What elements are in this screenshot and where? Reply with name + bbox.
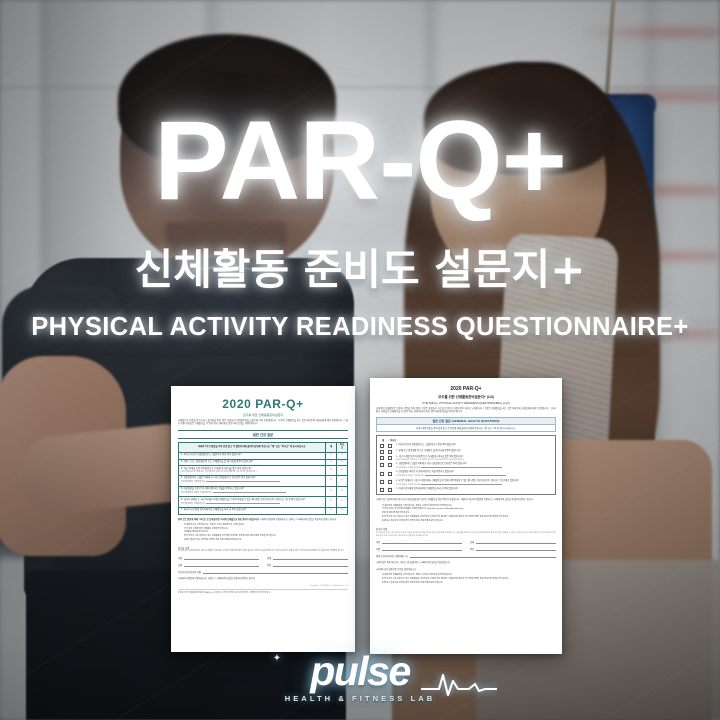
witness-input-line[interactable]	[273, 563, 348, 567]
guardian-row: 부모/보호자/관리인 서명	[178, 570, 348, 574]
guardian-field: 부모/보호자/관리인 서명	[178, 570, 348, 574]
doc-right-column-headers: 예 아니오	[380, 438, 552, 442]
q6-subnote: 여기에 질환을 기재해 주십시오:	[396, 483, 552, 487]
list-item: 만약 당신이 교육 이상이고 최근 신체활동을 규칙적으로 수행한 적이 없다면…	[382, 516, 556, 519]
name-label: 이름	[376, 540, 380, 544]
date-label: 날짜	[470, 540, 474, 544]
q5-body: 만성질환을 이유로 더 현재 처방되는 약물 복용하고 있습니까?	[398, 471, 454, 473]
doc-right-section-band-sub: 아래 7개의 질문을 주의 깊게 읽고 각 질문에 대해 솔직히 답변해 주십시…	[376, 425, 556, 432]
q5-write-in-line[interactable]	[425, 474, 506, 476]
doc-right-bottom-bullets: 더 활동적인 신체활동을 시작하십시오. 천천히 시작하고 점차적으로 진행하십…	[376, 574, 556, 585]
q5-no-box[interactable]: □	[337, 486, 348, 497]
signature-field: 서명	[267, 556, 348, 560]
q2-no-box[interactable]: □	[337, 459, 348, 466]
q6-text: 6. 당신은 현재(또는 지난 12개월 이내) 신체활동을 더 많이 하면 악…	[396, 480, 552, 487]
q4-body: 심장질환이나 고혈압 이외에 또 다른 만성질환으로 진단받은 적이 있습니까?	[398, 463, 466, 465]
doc-left-subtitle: 모두를 위한 신체활동준비설문지	[178, 413, 348, 417]
q1-yes-box[interactable]: □	[326, 452, 337, 459]
q1-number: 1	[181, 454, 182, 456]
guardian-input-line[interactable]	[410, 554, 556, 558]
q1-text: 1. 의사가 당신이 심장질환이나 고혈압이라 말한 적이 있습니까?	[179, 452, 326, 459]
q2-body: 쉴 때 또는 일상생활 중 또는 신체활동 할 때 가슴에 통증이 있습니까?	[398, 450, 460, 452]
date-field: 날짜	[178, 563, 259, 567]
signature-row: 서명 증인	[376, 547, 556, 551]
heartbeat-line-icon	[421, 671, 497, 697]
q1-body: 의사가 당신이 심장질환 또는 고혈압이라고 말한 적이 있습니까?	[398, 444, 456, 446]
q6-number: 6	[181, 499, 182, 501]
date-label: 날짜	[178, 563, 182, 567]
signature-row: 이름 서명	[178, 556, 348, 560]
name-field: 이름	[178, 556, 259, 560]
doc-right-subtitle-ko: 모두를 위한 신체활동준비설문지+ (1/4)	[376, 394, 556, 399]
q5-text: 5. 만성질환을 이유로 이 현재 처방되는 약물을 복용하고 있습니까? 여기…	[179, 486, 326, 497]
q4-subnote: 여기에 질환을 기재해 주십시오:	[396, 466, 552, 470]
q6-write-in-line[interactable]	[206, 502, 280, 504]
q3-yes-checkbox[interactable]	[380, 456, 384, 460]
q3-number: 3	[181, 468, 182, 470]
doc-left-bullet-list: 더 활동적으로 시작하십시오 - 천천히 그리고 점차적으로 시작하십시오. 국…	[178, 524, 348, 542]
document-left-par-q-english-form[interactable]: 2020 PAR-Q+ 모두를 위한 신체활동준비설문지 신체활동은 건강을 증…	[171, 386, 355, 652]
q4-text: 4. 심장질환이나 고혈압 이외에 또 다른 만성질환으로 진단받은 적이 있습…	[396, 463, 552, 470]
q4-number: 4	[181, 477, 182, 479]
doc-left-intro: 신체활동은 건강을 증진시키고 즐거움을 주며, 많은 사람들이 신체활동량을 …	[178, 420, 348, 427]
document-right-par-q-korean-form[interactable]: 2020 PAR-Q+ 모두를 위한 신체활동준비설문지+ (1/4) (THE…	[370, 378, 562, 654]
q3-yes-box[interactable]: □	[326, 466, 337, 476]
q7-text: 7. 의사가 당신에게 감독하에서만 신체활동을 하라 한 적이 있습니까?	[179, 507, 326, 514]
col-yes-label: 예	[382, 438, 386, 442]
q4-write-in-line[interactable]	[421, 466, 502, 468]
q5-sub-label: 여기에 질환과 약물을 기재하십시오:	[396, 475, 424, 477]
q5-number: 5	[181, 488, 182, 490]
q7-yes-checkbox[interactable]	[380, 488, 384, 492]
list-item: 만약 당신이 교육 이상이고 최근 신체활동을 규칙적으로 수행한 적이 없다면…	[382, 578, 556, 581]
doc-left-note-title: 위의 모든 질문에 대해 "아니오"로 답하셨다면, 의학적 신체활동을 위한 …	[178, 519, 260, 521]
q7-text: 7. 의사가 당신에게 감독하에서만 신체활동을 하라 한 적이 있습니까?	[396, 488, 552, 491]
signature-row: 이름 날짜	[376, 540, 556, 544]
date-input-line[interactable]	[476, 540, 556, 544]
q3-text: 3. 지난 12개월 동안 어지럼증으로 쓰러졌거나 의식을 잃은 적이 있습니…	[179, 466, 326, 476]
q7-no-checkbox[interactable]	[388, 488, 392, 492]
table-row: 7. 의사가 당신에게 감독하에서만 신체활동을 하라 한 적이 있습니까? □…	[179, 507, 348, 514]
q2-yes-box[interactable]: □	[326, 459, 337, 466]
th-no: 아니오	[337, 442, 348, 452]
question-row: 7. 의사가 당신에게 감독하에서만 신체활동을 하라 한 적이 있습니까?	[380, 488, 552, 492]
q3-subnote: (단지 과호흡으로 인해 또는 너무 빠르게 일어나서 어지러웠다면 '아니오'…	[396, 459, 552, 462]
guardian-input-line[interactable]	[203, 570, 348, 574]
q4-subnote: 여기에 질환을 기재하십시오:	[181, 480, 323, 484]
list-item: 문제 또는 질문으로 상담할 경우 인증된 운동 전문가에게 문의 하십시오.	[382, 582, 556, 585]
q3-body: 지난 12개월 동안 어지럼증으로 쓰러졌거나 의식을 잃은 적이 있습니까?	[398, 456, 463, 458]
doc-left-consent-body: 본 설문지는 작성일로부터 최대 12개월간 유효하며, 당신의 상태가 변하면…	[178, 550, 348, 553]
q4-sub-label: 여기에 질환을 기재하십시오:	[181, 481, 206, 483]
q4-write-in-line[interactable]	[206, 480, 280, 482]
q6-text: 6. 당신이 현재(또는 지난 12개월 이내) 신체활동을 더 하면 악화될 …	[179, 497, 326, 508]
q3-text: 3. 지난 12개월 동안 어지럼증으로 쓰러졌거나 의식을 잃은 적이 있습니…	[396, 456, 552, 462]
q7-body: 의사가 당신에게 감독하에서만 신체활동을 하라 한 적이 있습니까?	[398, 488, 458, 490]
guardian-row: 법적 보호자/관리인 서명(해당 시)	[376, 554, 556, 558]
doc-right-title: 2020 PAR-Q+	[376, 386, 556, 392]
doc-right-question-box: 예 아니오 1. 의사가 당신이 심장질환 또는 고혈압이라고 말한 적이 있습…	[376, 435, 556, 495]
doc-right-subtitle-en: (THE PAR-Q+, PHYSICAL ACTIVITY READINESS…	[376, 401, 556, 405]
subtitle-english: PHYSICAL ACTIVITY READINESS QUESTIONNAIR…	[0, 313, 720, 342]
q6-sub-label: 여기에 질환을 기재해 주십시오:	[396, 484, 421, 486]
signature-input-line[interactable]	[273, 556, 348, 560]
q4-sub-label: 여기에 질환을 기재해 주십시오:	[396, 467, 421, 469]
guardian-label: 부모/보호자/관리인 서명	[178, 570, 201, 574]
signature-label: 서명	[267, 556, 271, 560]
q1-no-box[interactable]: □	[337, 452, 348, 459]
q6-no-checkbox[interactable]	[388, 480, 392, 484]
witness-label: 증인	[267, 563, 271, 567]
q7-number: 7	[181, 509, 182, 511]
doc-left-note-block: 위의 모든 질문에 대해 "아니오"로 답하셨다면, 의학적 신체활동을 위한 …	[178, 519, 348, 522]
doc-right-footnote-2: ▪ 아래의 공복 권장사항 조언을 확인하십시오.	[376, 569, 556, 572]
q5-text: 5. 만성질환을 이유로 더 현재 처방되는 약물 복용하고 있습니까? 여기에…	[396, 471, 552, 478]
q2-number: 2	[181, 461, 182, 463]
question-row: 6. 당신은 현재(또는 지난 12개월 이내) 신체활동을 더 많이 하면 악…	[380, 480, 552, 487]
table-row: 6. 당신이 현재(또는 지난 12개월 이내) 신체활동을 더 하면 악화될 …	[179, 497, 348, 508]
date-input-line[interactable]	[184, 563, 259, 567]
list-item: 문제 또는 질문으로 상담할 경우 인증된 운동 전문가에게 문의 하십시오.	[382, 520, 556, 523]
q6-yes-checkbox[interactable]	[380, 480, 384, 484]
q5-yes-checkbox[interactable]	[380, 472, 384, 476]
q3-body: 지난 12개월 동안 어지럼증으로 쓰러졌거나 의식을 잃은 적이 있습니까?	[184, 468, 252, 470]
q4-yes-checkbox[interactable]	[380, 463, 384, 467]
signature-label: 서명	[376, 547, 380, 551]
doc-left-copyright: Copyright © 2020 PAR-Q+ Collaboration 1 …	[178, 585, 348, 587]
logo-wordmark: pulse	[285, 651, 436, 692]
doc-left-note-body: 아래의 서명란에 서명하십시오. 귀하는 2~4페이지의 설문을 작성하지 않아…	[260, 519, 336, 521]
q7-body: 의사가 당신에게 감독하에서만 신체활동을 하라 한 적이 있습니까?	[184, 509, 247, 511]
question-row: 3. 지난 12개월 동안 어지럼증으로 쓰러졌거나 의식을 잃은 적이 있습니…	[380, 456, 552, 462]
q3-subnote: (단지 과호흡으로 인해 또는 너무 빠르게 일어나서 어지러웠다면 "아니오"…	[181, 471, 323, 474]
q6-sub-label: 여기에 질환을 기재하십시오:	[181, 503, 206, 505]
poster-image: ◇ ◇ ◇ ◇ ◇ ◇ PAR-Q+ 신체활동 준비도 설문지+ PHYSICA…	[0, 0, 720, 720]
table-row: 2. 안정 시 또는 일상생활 중 또는 신체활동을 할 때 가슴에 통증이 있…	[179, 459, 348, 466]
q1-no-checkbox[interactable]	[388, 444, 392, 448]
table-row: 1. 의사가 당신이 심장질환이나 고혈압이라 말한 적이 있습니까? □ □	[179, 452, 348, 459]
doc-right-footnote-2-text: 아래의 공복 권장사항 조언을 확인하십시오.	[377, 569, 416, 571]
doc-left-footnote-1-text: 아래의 서명란에 서명하십시오. 귀하는 2~4페이지의 설문을 작성하지 않아…	[179, 578, 255, 580]
q5-subnote: 여기에 질환과 약물을 기재하십시오:	[396, 474, 552, 478]
q6-body: 당신이 현재(또는 지난 12개월 이내) 신체활동을 더 하면 악화될 수 있…	[184, 499, 306, 501]
q3-no-box[interactable]: □	[337, 466, 348, 476]
doc-left-footer-bar: 모두를 위한 신체활동준비설문지(PAR-Q+) 다운로드: 한국어 번역본 모…	[178, 589, 348, 594]
guardian-field: 법적 보호자/관리인 서명(해당 시)	[376, 554, 556, 558]
sparkle-icon: ✦	[273, 653, 281, 664]
q4-no-checkbox[interactable]	[388, 463, 392, 467]
doc-right-footnote-1: ▪ 위의 질문 중에 하나라도 '예'라고 답하셨다면, 2~4페이지의 설문을…	[376, 562, 556, 565]
q1-text: 1. 의사가 당신이 심장질환 또는 고혈압이라고 말한 적이 있습니까?	[396, 444, 552, 447]
q6-subnote: 여기에 질환을 기재하십시오:	[181, 502, 323, 506]
signature-field: 서명	[376, 547, 462, 551]
list-item: 만약 당신이 교육 이상이고 최근 신체활동을 하지 않은 경우에는 인증된 운…	[184, 535, 348, 538]
list-item: 문제나 질문이 있는 경우에는 인증된 운동 전문가에게 문의하십시오.	[184, 539, 348, 542]
date-field: 날짜	[470, 540, 556, 544]
q2-no-checkbox[interactable]	[388, 450, 392, 454]
name-label: 이름	[178, 556, 182, 560]
signature-row: 날짜 증인	[178, 563, 348, 567]
question-row: 4. 심장질환이나 고혈압 이외에 또 다른 만성질환으로 진단받은 적이 있습…	[380, 463, 552, 470]
table-row: 5. 만성질환을 이유로 이 현재 처방되는 약물을 복용하고 있습니까? 여기…	[179, 486, 348, 497]
doc-left-section-band: 일반 건강 질문	[178, 430, 348, 439]
q2-text: 2. 안정 시 또는 일상생활 중 또는 신체활동을 할 때 가슴에 통증이 있…	[179, 459, 326, 466]
doc-right-note-header: ▪ 위의 모든 질문에 대해 '아니오'로 대답하셨다면, 당신은 신체활동을 …	[376, 499, 556, 502]
table-header-row: 아래의 7가지 질문을 주의 깊게 읽고 각 질문에 대해 솔직히 답변해 주십…	[179, 442, 348, 452]
q1-body: 의사가 당신이 심장질환이나 고혈압이라 말한 적이 있습니까?	[184, 454, 242, 456]
page-title: PAR-Q+	[0, 108, 720, 214]
q5-yes-box[interactable]: □	[326, 486, 337, 497]
witness-field: 증인	[470, 547, 556, 551]
doc-left-signature-block: 참가자 서명 본 설문지는 작성일로부터 최대 12개월간 유효하며, 당신의 …	[178, 546, 348, 574]
q2-yes-checkbox[interactable]	[380, 450, 384, 454]
q5-sub-label: 여기에 질환과 약물을 기재하십시오:	[181, 492, 212, 494]
question-row: 2. 쉴 때 또는 일상생활 중 또는 신체활동 할 때 가슴에 통증이 있습니…	[380, 450, 552, 454]
doc-right-section-band: 일반 건강 질문 (GENERAL HEALTH QUESTIONS)	[376, 417, 556, 425]
col-no-label: 아니오	[390, 438, 398, 442]
q6-yes-box[interactable]: □	[326, 497, 337, 508]
list-item: 더 활동적으로 시작하십시오 - 천천히 그리고 점차적으로 시작하십시오.	[184, 524, 348, 527]
logo-tagline: HEALTH & FITNESS LAB	[285, 694, 436, 703]
witness-field: 증인	[267, 563, 348, 567]
list-item: 운동 및 체력 평가를 받으십시오.	[382, 512, 556, 515]
table-row: 4. 심장질환이나 고혈압 이외에 또 다른 만성질환으로 진단받은 적이 있습…	[179, 475, 348, 486]
doc-left-question-table: 아래의 7가지 질문을 주의 깊게 읽고 각 질문에 대해 솔직히 답변해 주십…	[178, 442, 348, 515]
doc-right-consent-body: 본 설문지의 결과는 작성일로부터 최대 12개월 동안만 유효하며 귀하의 상…	[376, 531, 556, 537]
name-field: 이름	[376, 540, 462, 544]
th-yes: 예	[326, 442, 337, 452]
doc-right-intro: 규칙적인 신체활동은 건강과 기쁨을 주며 점점 더 많은 사람들이 가능한 한…	[376, 408, 556, 415]
q4-no-box[interactable]: □	[337, 475, 348, 486]
q5-subnote: 여기에 질환과 약물을 기재하십시오:	[181, 491, 323, 495]
q2-text: 2. 쉴 때 또는 일상생활 중 또는 신체활동 할 때 가슴에 통증이 있습니…	[396, 450, 552, 453]
q4-yes-box[interactable]: □	[326, 475, 337, 486]
guardian-label: 법적 보호자/관리인 서명(해당 시)	[376, 554, 408, 558]
q6-write-in-line[interactable]	[421, 483, 502, 485]
name-input-line[interactable]	[382, 540, 462, 544]
q5-body: 만성질환을 이유로 이 현재 처방되는 약물을 복용하고 있습니까?	[184, 488, 245, 490]
q2-body: 안정 시 또는 일상생활 중 또는 신체활동을 할 때 가슴에 통증이 있습니까…	[184, 461, 254, 463]
doc-right-signature-block: 참가자 서명 본 설문지의 결과는 작성일로부터 최대 12개월 동안만 유효하…	[376, 527, 556, 558]
question-row: 1. 의사가 당신이 심장질환 또는 고혈압이라고 말한 적이 있습니까?	[380, 444, 552, 448]
q6-no-box[interactable]: □	[337, 497, 348, 508]
q5-no-checkbox[interactable]	[388, 472, 392, 476]
brand-logo: ✦ pulse HEALTH & FITNESS LAB	[0, 651, 720, 706]
th-question: 아래의 7가지 질문을 주의 깊게 읽고 각 질문에 대해 솔직히 답변해 주십…	[179, 442, 326, 452]
table-row: 3. 지난 12개월 동안 어지럼증으로 쓰러졌거나 의식을 잃은 적이 있습니…	[179, 466, 348, 476]
doc-right-footnote-1-text: 위의 질문 중에 하나라도 '예'라고 답하셨다면, 2~4페이지의 설문을 작…	[377, 562, 450, 564]
doc-left-footnote-1: ▪ 아래의 서명란에 서명하십시오. 귀하는 2~4페이지의 설문을 작성하지 …	[178, 578, 348, 581]
q1-yes-checkbox[interactable]	[380, 444, 384, 448]
witness-label: 증인	[470, 547, 474, 551]
signature-input-line[interactable]	[382, 547, 462, 551]
name-input-line[interactable]	[184, 556, 259, 560]
q4-body: 심장질환이나 고혈압 이외에 또 다른 만성질환으로 진단받은 적이 있습니까?	[184, 477, 256, 479]
doc-left-title: 2020 PAR-Q+	[178, 397, 348, 411]
witness-input-line[interactable]	[476, 547, 556, 551]
q7-no-box[interactable]: □	[337, 507, 348, 514]
q5-write-in-line[interactable]	[213, 491, 287, 493]
title-block: PAR-Q+ 신체활동 준비도 설문지+ PHYSICAL ACTIVITY R…	[0, 108, 720, 342]
q6-body: 당신은 현재(또는 지난 12개월 이내) 신체활동을 더 많이 하면 악화될 …	[398, 480, 519, 482]
doc-right-note-header-text: 위의 모든 질문에 대해 '아니오'로 대답하셨다면, 당신은 신체활동을 위한…	[377, 499, 533, 501]
q7-yes-box[interactable]: □	[326, 507, 337, 514]
q3-no-checkbox[interactable]	[388, 456, 392, 460]
question-row: 5. 만성질환을 이유로 더 현재 처방되는 약물 복용하고 있습니까? 여기에…	[380, 471, 552, 478]
subtitle-korean: 신체활동 준비도 설문지+	[0, 236, 720, 297]
q4-text: 4. 심장질환이나 고혈압 이외에 또 다른 만성질환으로 진단받은 적이 있습…	[179, 475, 326, 486]
doc-right-bullet-list: 더 활동적인 신체활동을 시작하십시오. 천천히 시작하고 점차적으로 진행하십…	[376, 505, 556, 523]
